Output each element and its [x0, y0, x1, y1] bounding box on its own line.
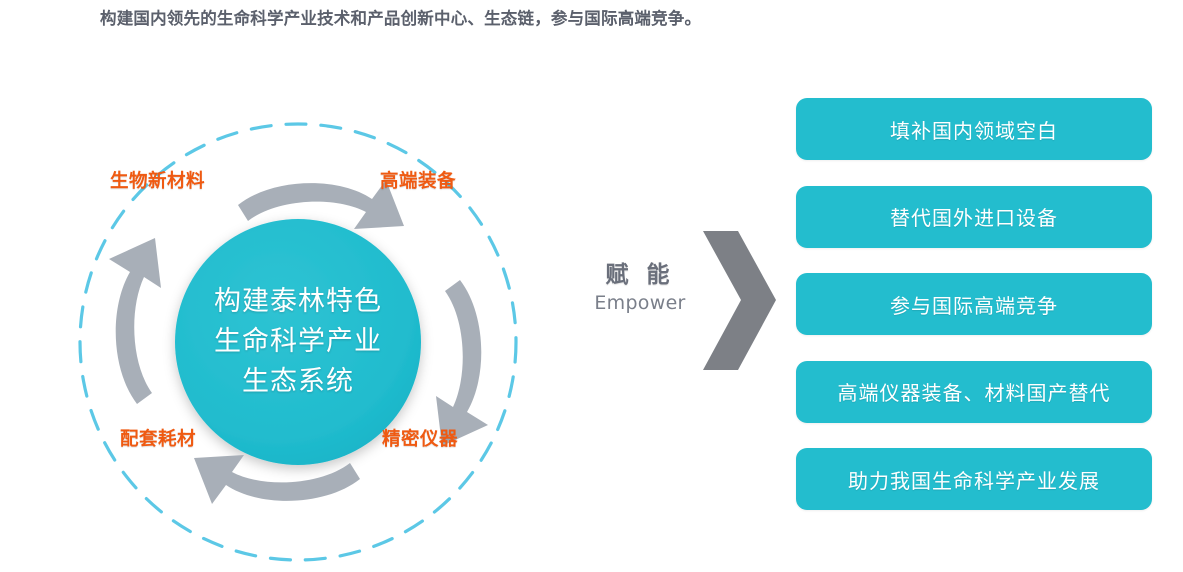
cycle-node-label-consumables: 配套耗材: [120, 425, 196, 451]
outcomes-list: 填补国内领域空白 替代国外进口设备 参与国际高端竞争 高端仪器装备、材料国产替代…: [796, 98, 1152, 510]
empower-label-group: 赋 能 Empower: [580, 260, 700, 316]
outcome-box-2[interactable]: 替代国外进口设备: [796, 186, 1152, 248]
outcome-label-4: 高端仪器装备、材料国产替代: [838, 377, 1111, 406]
outcome-box-5[interactable]: 助力我国生命科学产业发展: [796, 448, 1152, 510]
cycle-node-label-precision-instruments: 精密仪器: [382, 425, 458, 451]
empower-label-en: Empower: [580, 290, 700, 316]
cycle-node-label-bio-materials: 生物新材料: [110, 167, 205, 193]
chevron-right-icon: [698, 228, 780, 373]
outcome-label-3: 参与国际高端竞争: [890, 290, 1058, 319]
empower-connector: 赋 能 Empower: [580, 228, 790, 373]
slide-canvas: 构建国内领先的生命科学产业技术和产品创新中心、生态链，参与国际高端竞争。: [0, 0, 1183, 572]
outcome-box-1[interactable]: 填补国内领域空白: [796, 98, 1152, 160]
cycle-node-label-high-end-equipment: 高端装备: [380, 167, 456, 193]
page-title: 构建国内领先的生命科学产业技术和产品创新中心、生态链，参与国际高端竞争。: [100, 7, 1080, 31]
cycle-graphics: [20, 58, 580, 563]
outcome-label-2: 替代国外进口设备: [890, 202, 1058, 231]
empower-label-cn: 赋 能: [580, 260, 700, 290]
cycle-arrow-left-icon: [109, 238, 161, 404]
cycle-arrow-right-icon: [436, 280, 488, 446]
ecosystem-cycle-diagram: 构建泰林特色 生命科学产业 生态系统 生物新材料 高端装备 配套耗材 精密仪器: [20, 58, 580, 563]
outcome-box-4[interactable]: 高端仪器装备、材料国产替代: [796, 361, 1152, 423]
outcome-label-1: 填补国内领域空白: [890, 115, 1058, 144]
outcome-box-3[interactable]: 参与国际高端竞争: [796, 273, 1152, 335]
outcome-label-5: 助力我国生命科学产业发展: [848, 465, 1100, 494]
